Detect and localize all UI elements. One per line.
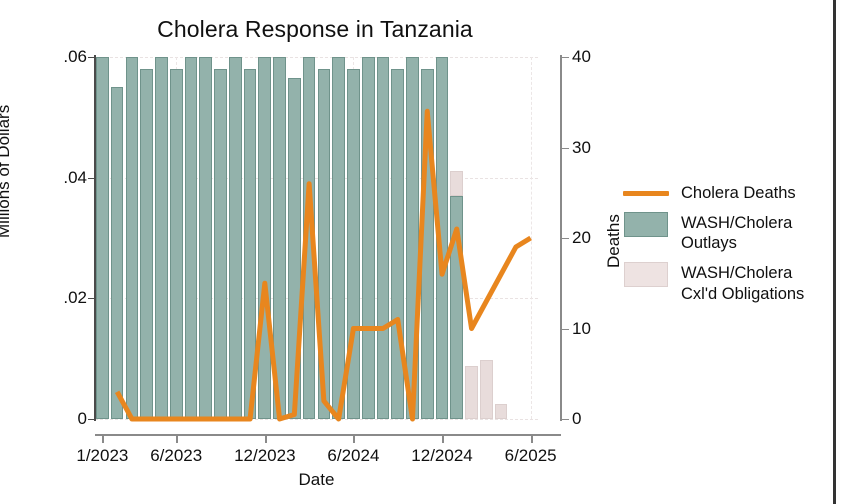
x-tick-label: 6/2023 xyxy=(150,446,202,466)
x-tick-label: 6/2025 xyxy=(505,446,557,466)
y-tick-label-right: 0 xyxy=(572,409,581,429)
line-series-cholera-deaths xyxy=(95,57,538,419)
chart-title: Cholera Response in Tanzania xyxy=(95,16,535,43)
y-tick-left xyxy=(88,57,95,58)
y-axis-right-label: Deaths xyxy=(604,214,624,268)
x-tick-label: 12/2024 xyxy=(411,446,472,466)
y-axis-left-label: Millions of Dollars xyxy=(0,105,14,238)
x-tick xyxy=(353,434,355,443)
y-tick-right xyxy=(562,57,569,58)
x-tick xyxy=(102,434,104,443)
x-tick xyxy=(176,434,178,443)
legend-item-wash-outlays: WASH/CholeraOutlays xyxy=(622,212,822,253)
y-tick-label-left: .02 xyxy=(63,288,87,308)
y-tick-right xyxy=(562,419,569,420)
y-tick-left xyxy=(88,178,95,179)
y-tick-label-left: 0 xyxy=(78,409,87,429)
x-axis-label: Date xyxy=(95,470,538,490)
legend-item-cholera-deaths: Cholera Deaths xyxy=(622,182,822,203)
y-tick-right xyxy=(562,238,569,239)
legend-label-cholera-deaths: Cholera Deaths xyxy=(681,182,796,203)
legend-key-line-icon xyxy=(622,182,670,196)
y-tick-left xyxy=(88,298,95,299)
legend-label-wash-cxl-line2: Cxl'd Obligations xyxy=(681,285,804,303)
chart-legend: Cholera Deaths WASH/CholeraOutlays WASH/… xyxy=(622,182,822,313)
legend-label-wash-outlays-line2: Outlays xyxy=(681,234,737,252)
y-axis-left xyxy=(94,55,96,421)
x-tick xyxy=(442,434,444,443)
legend-item-wash-cxl-obligations: WASH/CholeraCxl'd Obligations xyxy=(622,262,822,303)
x-tick-label: 12/2023 xyxy=(234,446,295,466)
y-tick-label-right: 30 xyxy=(572,138,591,158)
y-tick-right xyxy=(562,329,569,330)
plot-area xyxy=(95,57,538,419)
x-tick-label: 6/2024 xyxy=(327,446,379,466)
y-tick-right xyxy=(562,148,569,149)
chart-screenshot: Cholera Response in Tanzania 0.02.04.06 … xyxy=(0,0,842,504)
x-tick xyxy=(531,434,533,443)
y-tick-label-right: 20 xyxy=(572,228,591,248)
y-tick-left xyxy=(88,419,95,420)
legend-label-wash-cxl-obligations: WASH/CholeraCxl'd Obligations xyxy=(681,262,804,303)
x-tick-label: 1/2023 xyxy=(76,446,128,466)
y-tick-label-right: 40 xyxy=(572,47,591,67)
legend-label-wash-outlays-line1: WASH/Cholera xyxy=(681,214,792,232)
legend-key-cxl-swatch-icon xyxy=(622,262,670,287)
legend-label-wash-outlays: WASH/CholeraOutlays xyxy=(681,212,792,253)
legend-label-wash-cxl-line1: WASH/Cholera xyxy=(681,264,792,282)
x-tick xyxy=(265,434,267,443)
x-axis xyxy=(95,434,561,436)
y-tick-label-left: .06 xyxy=(63,47,87,67)
legend-key-outlay-swatch-icon xyxy=(622,212,670,237)
y-tick-label-right: 10 xyxy=(572,319,591,339)
y-tick-label-left: .04 xyxy=(63,168,87,188)
